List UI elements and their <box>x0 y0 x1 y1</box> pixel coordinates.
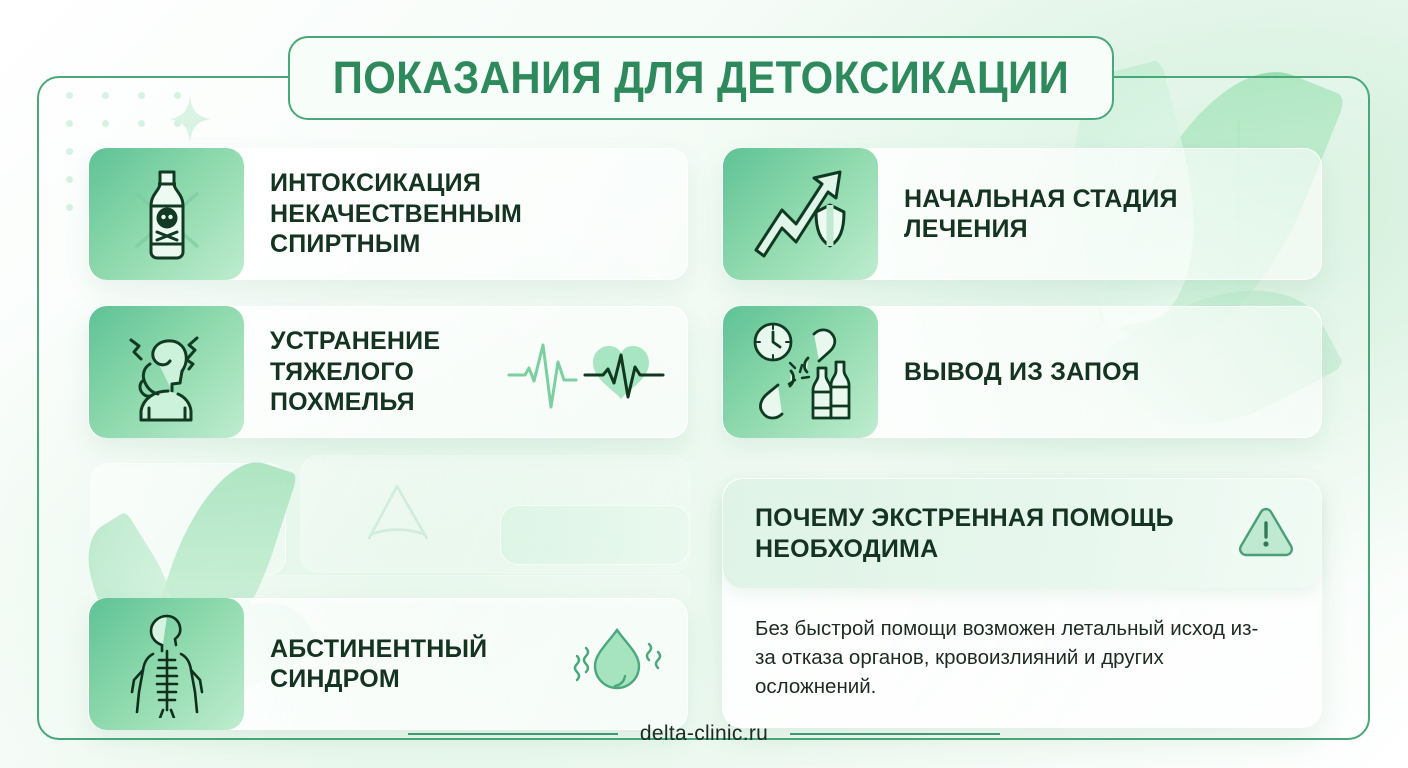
card-binge-exit[interactable]: ВЫВОД ИЗ ЗАПОЯ <box>722 306 1322 438</box>
card-label: ИНТОКСИКАЦИЯ НЕКАЧЕСТВЕННЫМ СПИРТНЫМ <box>244 168 687 260</box>
poison-bottle-icon <box>89 148 244 280</box>
card-early-treatment[interactable]: НАЧАЛЬНАЯ СТАДИЯ ЛЕЧЕНИЯ <box>722 148 1322 280</box>
footer: delta-clinic.ru <box>0 722 1408 746</box>
card-intoxication[interactable]: ИНТОКСИКАЦИЯ НЕКАЧЕСТВЕННЫМ СПИРТНЫМ <box>88 148 688 280</box>
page-title-badge: ПОКАЗАНИЯ ДЛЯ ДЕТОКСИКАЦИИ <box>288 36 1114 120</box>
emergency-body-text: Без быстрой помощи возможен летальный ис… <box>723 588 1321 701</box>
headache-person-icon <box>89 306 244 438</box>
footer-site-url[interactable]: delta-clinic.ru <box>640 722 768 746</box>
footer-rule-left <box>408 733 618 735</box>
card-label: АБСТИНЕНТНЫЙ СИНДРОМ <box>244 634 559 695</box>
right-card-column: НАЧАЛЬНАЯ СТАДИЯ ЛЕЧЕНИЯ <box>722 148 1322 728</box>
clock-broken-chain-bottles-icon <box>723 306 878 438</box>
warning-triangle-icon <box>1237 504 1295 563</box>
card-withdrawal[interactable]: АБСТИНЕНТНЫЙ СИНДРОМ <box>88 598 688 730</box>
page-title: ПОКАЗАНИЯ ДЛЯ ДЕТОКСИКАЦИИ <box>333 52 1069 104</box>
ecg-heart-icon <box>507 335 687 409</box>
left-card-column: ИНТОКСИКАЦИЯ НЕКАЧЕСТВЕННЫМ СПИРТНЫМ <box>88 148 688 730</box>
card-label: УСТРАНЕНИЕ ТЯЖЕЛОГО ПОХМЕЛЬЯ <box>244 326 507 418</box>
emergency-panel: ПОЧЕМУ ЭКСТРЕННАЯ ПОМОЩЬ НЕОБХОДИМА Без … <box>722 478 1322 728</box>
card-label: ВЫВОД ИЗ ЗАПОЯ <box>878 357 1321 388</box>
emergency-heading: ПОЧЕМУ ЭКСТРЕННАЯ ПОМОЩЬ НЕОБХОДИМА <box>755 503 1237 564</box>
infographic-page: ПОКАЗАНИЯ ДЛЯ ДЕТОКСИКАЦИИ <box>0 0 1408 768</box>
emergency-header: ПОЧЕМУ ЭКСТРЕННАЯ ПОМОЩЬ НЕОБХОДИМА <box>723 479 1321 588</box>
card-label: НАЧАЛЬНАЯ СТАДИЯ ЛЕЧЕНИЯ <box>878 184 1321 245</box>
card-hangover[interactable]: УСТРАНЕНИЕ ТЯЖЕЛОГО ПОХМЕЛЬЯ <box>88 306 688 438</box>
water-drop-icon <box>559 622 687 706</box>
nervous-system-icon <box>89 598 244 730</box>
footer-rule-right <box>790 733 1000 735</box>
growth-arrow-shield-icon <box>723 148 878 280</box>
